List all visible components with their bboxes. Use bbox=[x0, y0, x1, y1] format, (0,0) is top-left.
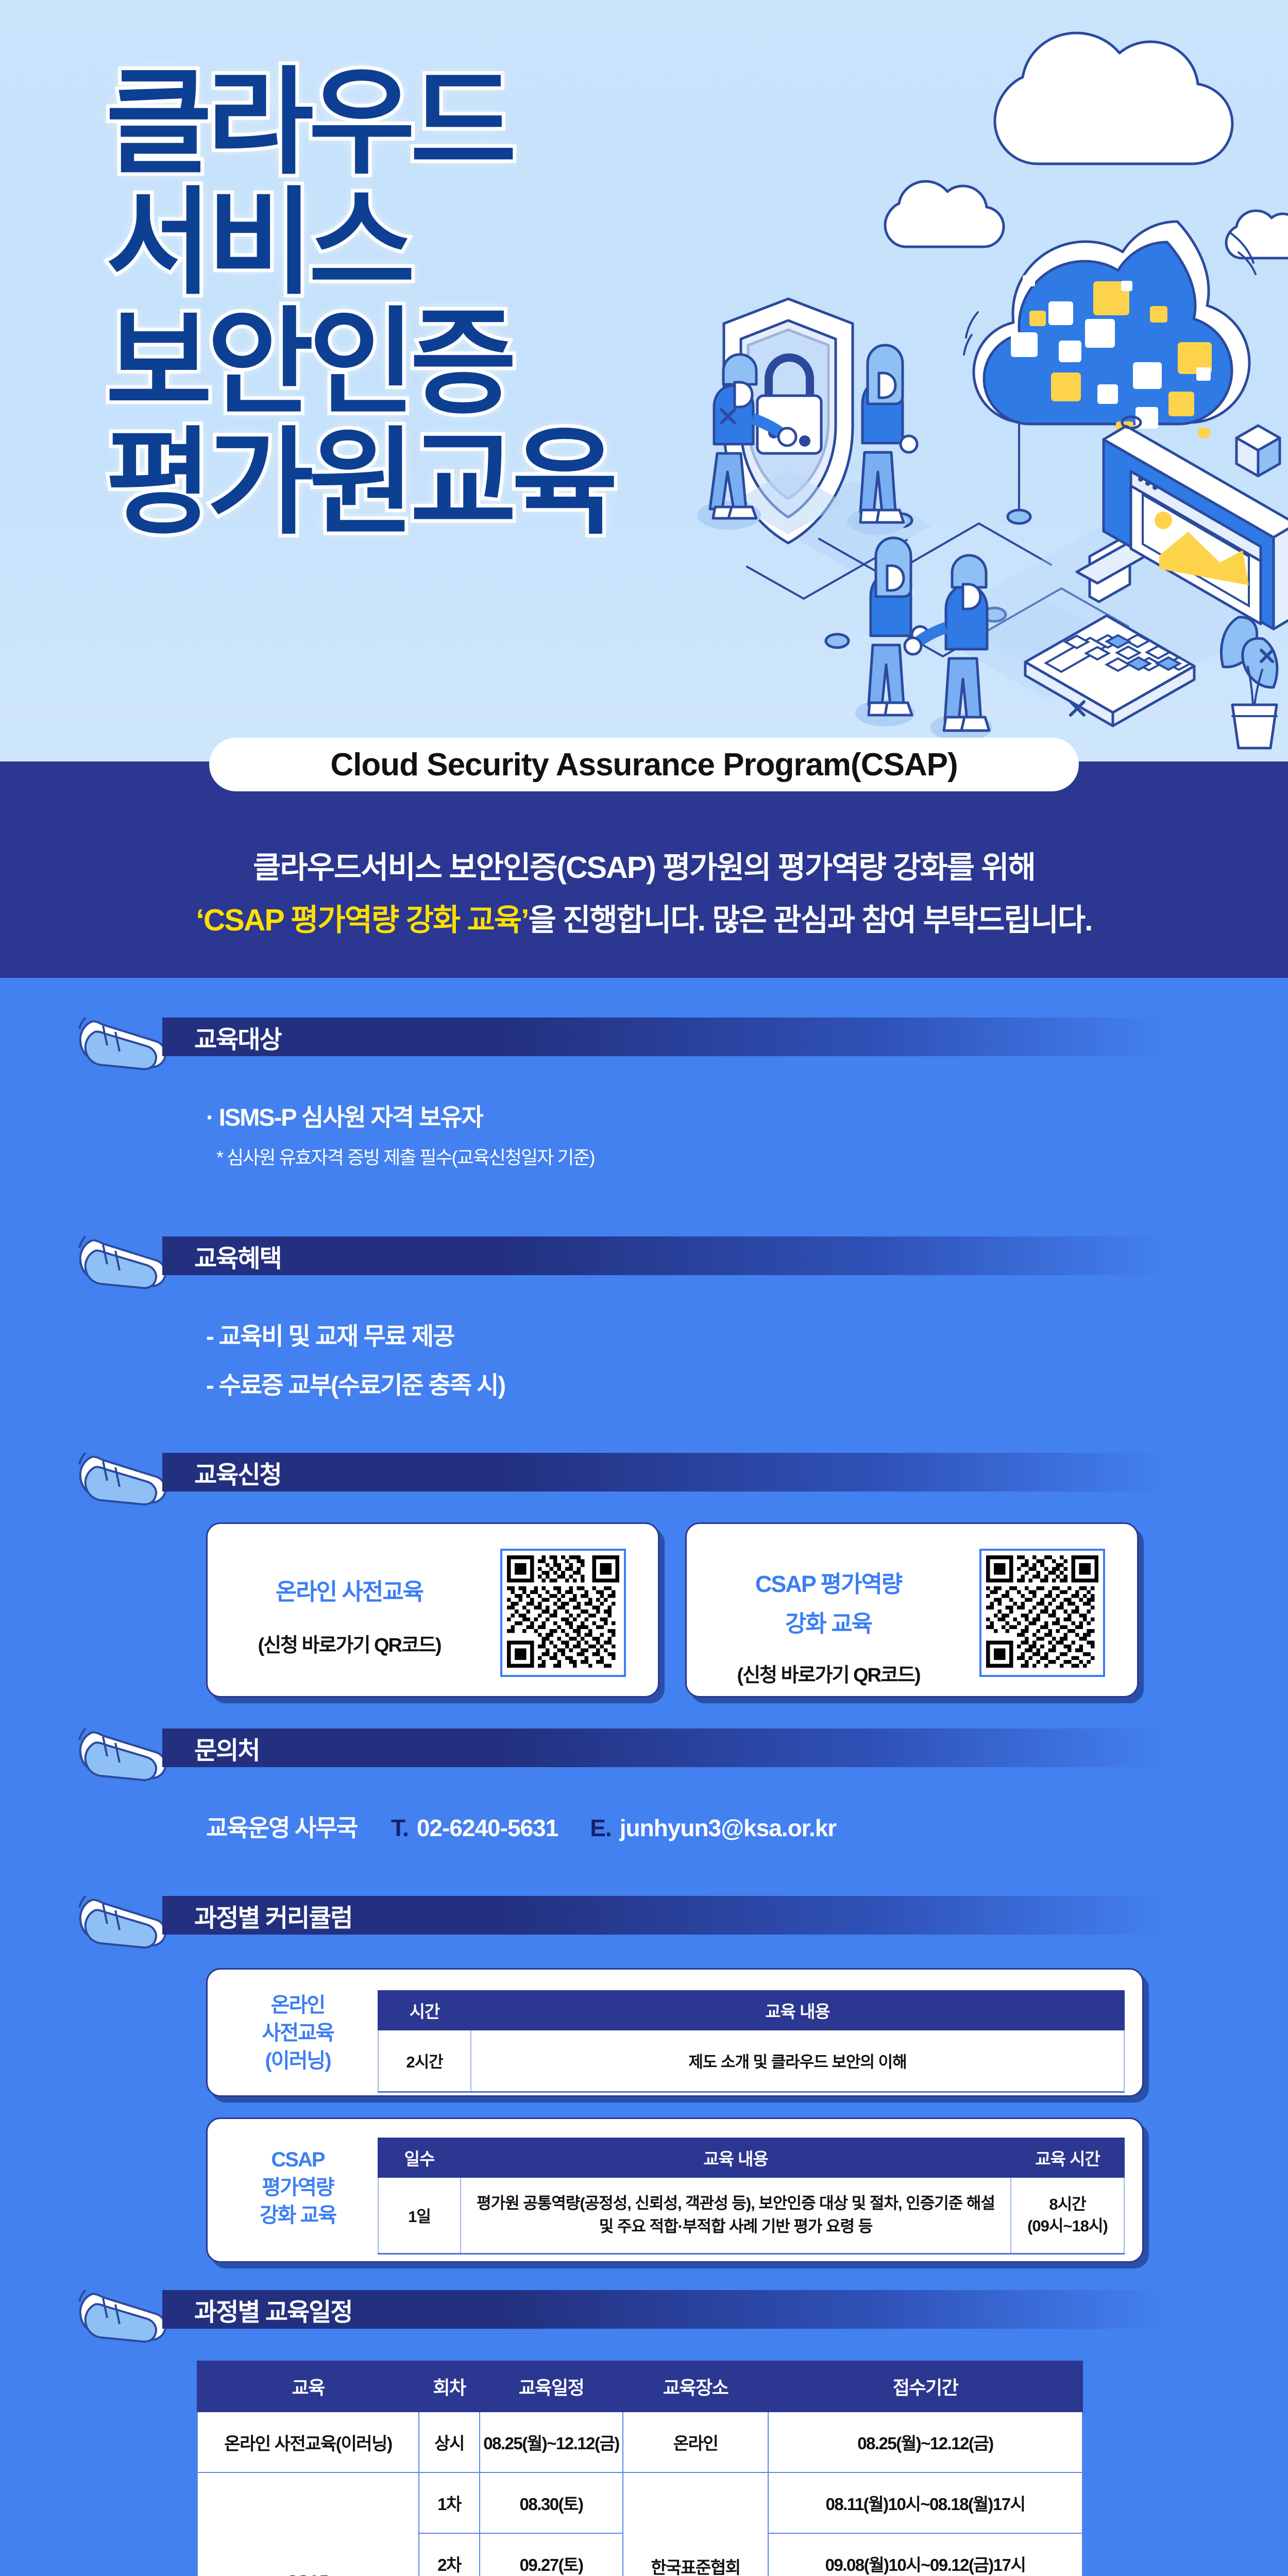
title-line-2: 서비스 bbox=[106, 183, 613, 303]
curriculum-table-online: 시간 교육 내용 2시간 제도 소개 및 클라우드 보안의 이해 bbox=[378, 1990, 1125, 2093]
title-line-4: 평가원교육 bbox=[106, 423, 613, 543]
cell-course: CSAP 평가역량 강화 교육 bbox=[197, 2472, 419, 2576]
program-name-text: Cloud Security Assurance Program(CSAP) bbox=[330, 747, 957, 783]
target-bullet: · ISMS-P 심사원 자격 보유자 bbox=[206, 1097, 483, 1133]
isometric-data-cloud-icon bbox=[964, 222, 1256, 438]
person-pair-bottom bbox=[855, 538, 992, 741]
section-header-bar: 교육대상 bbox=[162, 1018, 1162, 1056]
cloud-marker-icon bbox=[72, 1878, 175, 1967]
col-header-content: 교육 내용 bbox=[461, 2138, 1011, 2177]
cell-hours: 8시간 (09시~18시) bbox=[1011, 2177, 1124, 2253]
col-header-course: 교육 bbox=[197, 2361, 419, 2412]
section-title: 교육혜택 bbox=[194, 1238, 281, 1274]
apply-card-subtitle: (신청 바로가기 QR코드) bbox=[239, 1629, 460, 1657]
section-header-bar: 문의처 bbox=[162, 1728, 1162, 1767]
cell-days: 1일 bbox=[378, 2177, 461, 2253]
cell-period: 09.08(월)10시~09.12(금)17시 bbox=[768, 2533, 1082, 2576]
contact-office: 교육운영 사무국 bbox=[206, 1809, 357, 1843]
table-row: 1일 평가원 공통역량(공정성, 신뢰성, 객관성 등), 보안인증 대상 및 … bbox=[378, 2177, 1124, 2253]
apply-card-subtitle: (신청 바로가기 QR코드) bbox=[715, 1659, 942, 1687]
table-header-row: 시간 교육 내용 bbox=[378, 1991, 1124, 2030]
curriculum-card-csap: CSAP 평가역량 강화 교육 일수 교육 내용 교육 시간 1일 평가원 공통… bbox=[206, 2117, 1144, 2263]
curriculum-course-label-csap: CSAP 평가역량 강화 교육 bbox=[223, 2146, 372, 2229]
title-line-3: 보안인증 bbox=[106, 303, 613, 423]
cell-date: 08.25(월)~12.12(금) bbox=[480, 2412, 623, 2472]
label-line-1: 온라인 bbox=[228, 1991, 367, 2019]
contact-details: 교육운영 사무국 T. 02-6240-5631 E. junhyun3@ksa… bbox=[206, 1809, 836, 1843]
intro-highlight: ‘CSAP 평가역량 강화 교육’ bbox=[196, 903, 528, 937]
apply-card-csap-capability[interactable]: CSAP 평가역량 강화 교육 (신청 바로가기 QR코드) bbox=[685, 1522, 1139, 1698]
col-header-time: 시간 bbox=[378, 1991, 471, 2030]
label-line-2: 평가역량 bbox=[223, 2174, 372, 2201]
title-line-1: 클라우드 bbox=[106, 63, 613, 183]
cell-round: 상시 bbox=[419, 2412, 480, 2472]
label-line-3: (이러닝) bbox=[228, 2047, 367, 2075]
page-title: 클라우드 서비스 보안인증 평가원교육 bbox=[106, 63, 613, 543]
potted-plant-illustration bbox=[1222, 617, 1277, 748]
decorative-cloud-small bbox=[885, 181, 1004, 247]
apply-card-title-line2: 강화 교육 bbox=[715, 1605, 942, 1638]
schedule-table: 교육 회차 교육일정 교육장소 접수기간 온라인 사전교육(이러닝) 상시 08… bbox=[197, 2361, 1083, 2576]
table-header-row: 일수 교육 내용 교육 시간 bbox=[378, 2138, 1124, 2177]
hero-banner: .ln{fill:none;stroke:#2b4a9e;stroke-widt… bbox=[0, 0, 1288, 761]
section-title: 교육대상 bbox=[194, 1019, 281, 1055]
qr-code-csap-capability-training[interactable] bbox=[979, 1549, 1105, 1677]
table-row: 온라인 사전교육(이러닝) 상시 08.25(월)~12.12(금) 온라인 0… bbox=[197, 2412, 1082, 2472]
label-line-3: 강화 교육 bbox=[223, 2201, 372, 2229]
col-header-round: 회차 bbox=[419, 2361, 480, 2412]
curriculum-course-label-online: 온라인 사전교육 (이러닝) bbox=[228, 1991, 367, 2075]
section-header-bar: 과정별 교육일정 bbox=[162, 2290, 1162, 2329]
cell-content: 제도 소개 및 클라우드 보안의 이해 bbox=[471, 2030, 1124, 2092]
target-note: * 심사원 유효자격 증빙 제출 필수(교육신청일자 기준) bbox=[216, 1143, 595, 1170]
col-header-period: 접수기간 bbox=[768, 2361, 1082, 2412]
cell-place: 온라인 bbox=[623, 2412, 768, 2472]
apply-card-title: 온라인 사전교육 bbox=[239, 1573, 460, 1606]
isometric-cube-icon bbox=[1236, 426, 1280, 476]
cloud-marker-icon bbox=[72, 1711, 175, 1800]
contact-email-key: E. bbox=[590, 1814, 611, 1842]
table-row: CSAP 평가역량 강화 교육 1차 08.30(토) 한국표준협회 퓨처밸류캠… bbox=[197, 2472, 1082, 2533]
label-line-1: CSAP bbox=[223, 2146, 372, 2174]
section-header-bar: 교육신청 bbox=[162, 1453, 1162, 1492]
decorative-cloud-large bbox=[995, 33, 1232, 164]
col-header-days: 일수 bbox=[378, 2138, 461, 2177]
cloud-marker-icon bbox=[72, 1435, 175, 1524]
cloud-marker-icon bbox=[72, 2273, 175, 2361]
curriculum-table-csap: 일수 교육 내용 교육 시간 1일 평가원 공통역량(공정성, 신뢰성, 객관성… bbox=[378, 2138, 1125, 2255]
cell-course: 온라인 사전교육(이러닝) bbox=[197, 2412, 419, 2472]
cell-round: 1차 bbox=[419, 2472, 480, 2533]
contact-phone-key: T. bbox=[391, 1814, 409, 1842]
cell-period: 08.11(월)10시~08.18(월)17시 bbox=[768, 2472, 1082, 2533]
table-header-row: 교육 회차 교육일정 교육장소 접수기간 bbox=[197, 2361, 1082, 2412]
section-title: 교육신청 bbox=[194, 1454, 281, 1490]
section-title: 문의처 bbox=[194, 1730, 259, 1766]
intro-line-2: ‘CSAP 평가역량 강화 교육’을 진행합니다. 많은 관심과 참여 부탁드립… bbox=[0, 895, 1288, 939]
cell-content: 평가원 공통역량(공정성, 신뢰성, 객관성 등), 보안인증 대상 및 절차,… bbox=[461, 2177, 1011, 2253]
qr-code-online-pre-training[interactable] bbox=[500, 1549, 626, 1677]
program-name-pill: Cloud Security Assurance Program(CSAP) bbox=[209, 738, 1079, 791]
label-line-2: 사전교육 bbox=[228, 2019, 367, 2047]
intro-line-2-rest: 을 진행합니다. 많은 관심과 참여 부탁드립니다. bbox=[528, 903, 1092, 937]
contact-phone-value[interactable]: 02-6240-5631 bbox=[417, 1814, 558, 1842]
curriculum-card-online: 온라인 사전교육 (이러닝) 시간 교육 내용 2시간 제도 소개 및 클라우드… bbox=[206, 1968, 1144, 2097]
cell-date: 08.30(토) bbox=[480, 2472, 623, 2533]
cell-round: 2차 bbox=[419, 2533, 480, 2576]
section-title: 과정별 커리큘럼 bbox=[194, 1897, 352, 1934]
section-header-bar: 과정별 커리큘럼 bbox=[162, 1896, 1162, 1935]
table-row: 2시간 제도 소개 및 클라우드 보안의 이해 bbox=[378, 2030, 1124, 2092]
cell-date: 09.27(토) bbox=[480, 2533, 623, 2576]
section-header-bar: 교육혜택 bbox=[162, 1236, 1162, 1275]
cloud-marker-icon bbox=[72, 1219, 175, 1308]
contact-email-value[interactable]: junhyun3@ksa.or.kr bbox=[620, 1814, 837, 1842]
decorative-cloud-tiny bbox=[1226, 211, 1288, 258]
content-body bbox=[0, 978, 1288, 2576]
col-header-content: 교육 내용 bbox=[471, 1991, 1124, 2030]
benefit-item-1: - 교육비 및 교재 무료 제공 bbox=[206, 1316, 454, 1352]
cell-place: 한국표준협회 퓨처밸류캠퍼스강남 (역삼역 인근) bbox=[623, 2472, 768, 2576]
apply-card-online-pretraining[interactable]: 온라인 사전교육 (신청 바로가기 QR코드) bbox=[206, 1522, 659, 1698]
col-header-date: 교육일정 bbox=[480, 2361, 623, 2412]
intro-line-1: 클라우드서비스 보안인증(CSAP) 평가원의 평가역량 강화를 위해 bbox=[0, 843, 1288, 887]
cloud-marker-icon bbox=[72, 1000, 175, 1089]
col-header-hours: 교육 시간 bbox=[1011, 2138, 1124, 2177]
cell-period: 08.25(월)~12.12(금) bbox=[768, 2412, 1082, 2472]
apply-card-title-line1: CSAP 평가역량 bbox=[715, 1565, 942, 1599]
col-header-place: 교육장소 bbox=[623, 2361, 768, 2412]
section-title: 과정별 교육일정 bbox=[194, 2292, 352, 2328]
benefit-item-2: - 수료증 교부(수료기준 충족 시) bbox=[206, 1365, 505, 1401]
qr-code-image bbox=[507, 1555, 619, 1668]
qr-code-image bbox=[986, 1555, 1098, 1668]
cell-time: 2시간 bbox=[378, 2030, 471, 2092]
